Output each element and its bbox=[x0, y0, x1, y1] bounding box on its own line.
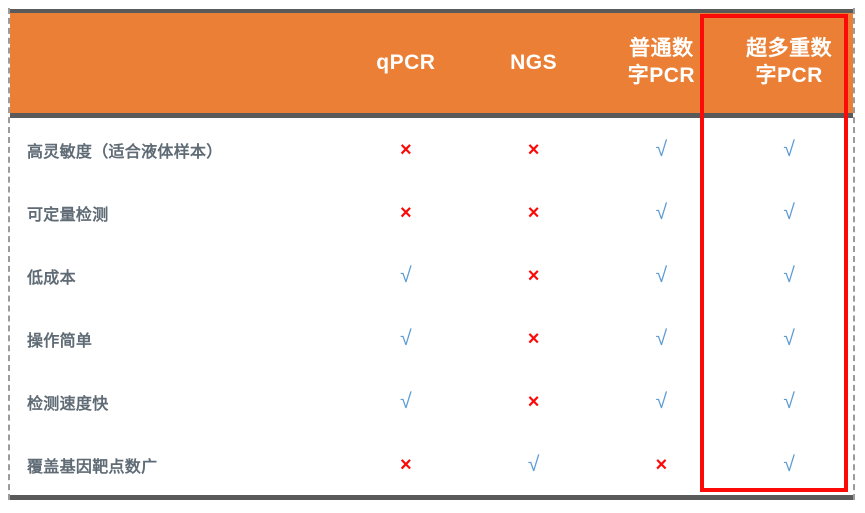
header-cell-feature bbox=[10, 13, 342, 113]
header-cell-qpcr: qPCR bbox=[342, 13, 470, 113]
cell-dpcr-mark: √ bbox=[598, 328, 726, 349]
row-feature-label: 操作简单 bbox=[10, 327, 342, 351]
cell-mdpcr-mark: √ bbox=[725, 454, 853, 475]
header-digital-pcr-line2: 字PCR bbox=[628, 64, 695, 87]
cell-ngs-mark: × bbox=[470, 392, 598, 412]
table-header-row: qPCR NGS 普通数 字PCR 超多重数 字PCR bbox=[10, 9, 853, 113]
cell-qpcr-mark: √ bbox=[342, 328, 470, 349]
table-body: 高灵敏度（适合液体样本） × × √ √ 可定量检测 × × √ √ 低成本 √… bbox=[10, 118, 853, 495]
table-row: 检测速度快 √ × √ √ bbox=[10, 370, 853, 433]
row-feature-label: 可定量检测 bbox=[10, 201, 342, 225]
cell-ngs-mark: × bbox=[470, 266, 598, 286]
header-multiplex-digital-pcr-label: 超多重数 字PCR bbox=[746, 36, 832, 90]
header-ngs-label: NGS bbox=[510, 50, 557, 77]
cell-dpcr-mark: √ bbox=[598, 391, 726, 412]
table-row: 可定量检测 × × √ √ bbox=[10, 181, 853, 244]
row-feature-label: 低成本 bbox=[10, 264, 342, 288]
cell-mdpcr-mark: √ bbox=[725, 328, 853, 349]
cell-ngs-mark: × bbox=[470, 329, 598, 349]
header-multiplex-digital-pcr-line1: 超多重数 bbox=[746, 37, 832, 60]
table-bottom-rule bbox=[10, 495, 853, 500]
cell-ngs-mark: × bbox=[470, 140, 598, 160]
cell-mdpcr-mark: √ bbox=[725, 265, 853, 286]
row-feature-label: 检测速度快 bbox=[10, 390, 342, 414]
table-row: 操作简单 √ × √ √ bbox=[10, 307, 853, 370]
row-feature-label: 高灵敏度（适合液体样本） bbox=[10, 138, 342, 162]
cell-dpcr-mark: √ bbox=[598, 265, 726, 286]
cell-ngs-mark: √ bbox=[470, 454, 598, 475]
cell-dpcr-mark: √ bbox=[598, 202, 726, 223]
header-multiplex-digital-pcr-line2: 字PCR bbox=[755, 64, 822, 87]
header-digital-pcr-line1: 普通数 bbox=[629, 37, 694, 60]
comparison-table-figure: qPCR NGS 普通数 字PCR 超多重数 字PCR 高灵敏度（适合液体样本）… bbox=[0, 0, 865, 513]
table-row: 低成本 √ × √ √ bbox=[10, 244, 853, 307]
cell-qpcr-mark: × bbox=[342, 203, 470, 223]
header-cell-digital-pcr: 普通数 字PCR bbox=[598, 13, 726, 113]
cell-mdpcr-mark: √ bbox=[725, 202, 853, 223]
cell-qpcr-mark: √ bbox=[342, 265, 470, 286]
cell-dpcr-mark: √ bbox=[598, 139, 726, 160]
header-cell-multiplex-digital-pcr: 超多重数 字PCR bbox=[725, 13, 853, 113]
cell-mdpcr-mark: √ bbox=[725, 139, 853, 160]
cell-qpcr-mark: × bbox=[342, 140, 470, 160]
header-qpcr-label: qPCR bbox=[376, 50, 435, 77]
table-row: 高灵敏度（适合液体样本） × × √ √ bbox=[10, 118, 853, 181]
header-cell-ngs: NGS bbox=[470, 13, 598, 113]
cell-qpcr-mark: × bbox=[342, 455, 470, 475]
cell-ngs-mark: × bbox=[470, 203, 598, 223]
cell-mdpcr-mark: √ bbox=[725, 391, 853, 412]
table-row: 覆盖基因靶点数广 × √ × √ bbox=[10, 433, 853, 496]
cell-dpcr-mark: × bbox=[598, 455, 726, 475]
row-feature-label: 覆盖基因靶点数广 bbox=[10, 453, 342, 477]
header-digital-pcr-label: 普通数 字PCR bbox=[628, 36, 695, 90]
cell-qpcr-mark: √ bbox=[342, 391, 470, 412]
